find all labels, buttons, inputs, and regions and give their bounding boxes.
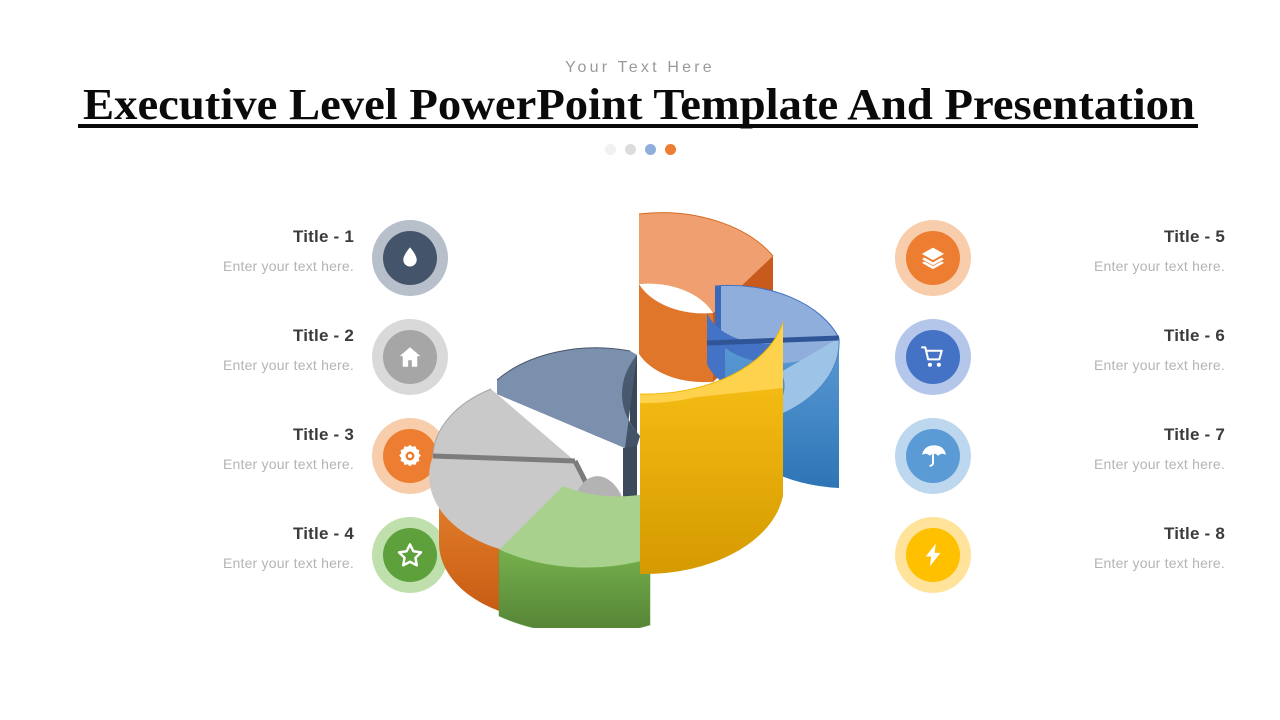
feature-badge-8[interactable] (895, 517, 971, 593)
feature-text-7: Title - 7Enter your text here. (989, 424, 1225, 473)
feature-subtitle-2: Enter your text here. (118, 356, 354, 374)
feature-subtitle-5: Enter your text here. (989, 257, 1225, 275)
eyebrow-text: Your Text Here (0, 59, 1280, 77)
dot-2[interactable] (625, 144, 636, 155)
umbrella-icon (906, 429, 960, 483)
feature-text-4: Title - 4Enter your text here. (118, 523, 354, 572)
feature-badge-5[interactable] (895, 220, 971, 296)
dot-4[interactable] (665, 144, 676, 155)
feature-subtitle-4: Enter your text here. (118, 554, 354, 572)
feature-text-1: Title - 1Enter your text here. (118, 226, 354, 275)
feature-item-7[interactable]: Title - 7Enter your text here. (895, 416, 1225, 515)
feature-subtitle-6: Enter your text here. (989, 356, 1225, 374)
feature-title-5: Title - 5 (989, 226, 1225, 248)
page-title: Executive Level PowerPoint Template And … (44, 82, 1233, 128)
feature-text-6: Title - 6Enter your text here. (989, 325, 1225, 374)
pagination-dots[interactable] (0, 144, 1280, 155)
title-underline-rule (78, 124, 1198, 128)
feature-subtitle-3: Enter your text here. (118, 455, 354, 473)
page-title-wrapper: Executive Level PowerPoint Template And … (78, 82, 1200, 128)
feature-item-1[interactable]: Title - 1Enter your text here. (118, 218, 448, 317)
feature-title-1: Title - 1 (118, 226, 354, 248)
layers-icon (906, 231, 960, 285)
right-items-column: Title - 5Enter your text here.Title - 6E… (895, 218, 1225, 614)
feature-text-2: Title - 2Enter your text here. (118, 325, 354, 374)
feature-item-4[interactable]: Title - 4Enter your text here. (118, 515, 448, 614)
feature-title-3: Title - 3 (118, 424, 354, 446)
feature-item-2[interactable]: Title - 2Enter your text here. (118, 317, 448, 416)
feature-title-7: Title - 7 (989, 424, 1225, 446)
feature-text-8: Title - 8Enter your text here. (989, 523, 1225, 572)
slide-header: Your Text Here Executive Level PowerPoin… (0, 0, 1280, 170)
feature-title-2: Title - 2 (118, 325, 354, 347)
feature-text-3: Title - 3Enter your text here. (118, 424, 354, 473)
feature-item-6[interactable]: Title - 6Enter your text here. (895, 317, 1225, 416)
feature-text-5: Title - 5Enter your text here. (989, 226, 1225, 275)
shopping-cart-icon (906, 330, 960, 384)
dot-3[interactable] (645, 144, 656, 155)
dot-1[interactable] (605, 144, 616, 155)
feature-subtitle-1: Enter your text here. (118, 257, 354, 275)
feature-title-8: Title - 8 (989, 523, 1225, 545)
feature-title-6: Title - 6 (989, 325, 1225, 347)
three-d-doughnut-chart[interactable] (425, 198, 865, 628)
feature-item-3[interactable]: Title - 3Enter your text here. (118, 416, 448, 515)
feature-subtitle-8: Enter your text here. (989, 554, 1225, 572)
feature-item-8[interactable]: Title - 8Enter your text here. (895, 515, 1225, 614)
lightning-bolt-icon (906, 528, 960, 582)
feature-badge-7[interactable] (895, 418, 971, 494)
feature-subtitle-7: Enter your text here. (989, 455, 1225, 473)
feature-badge-6[interactable] (895, 319, 971, 395)
feature-item-5[interactable]: Title - 5Enter your text here. (895, 218, 1225, 317)
left-items-column: Title - 1Enter your text here.Title - 2E… (118, 218, 448, 614)
feature-title-4: Title - 4 (118, 523, 354, 545)
